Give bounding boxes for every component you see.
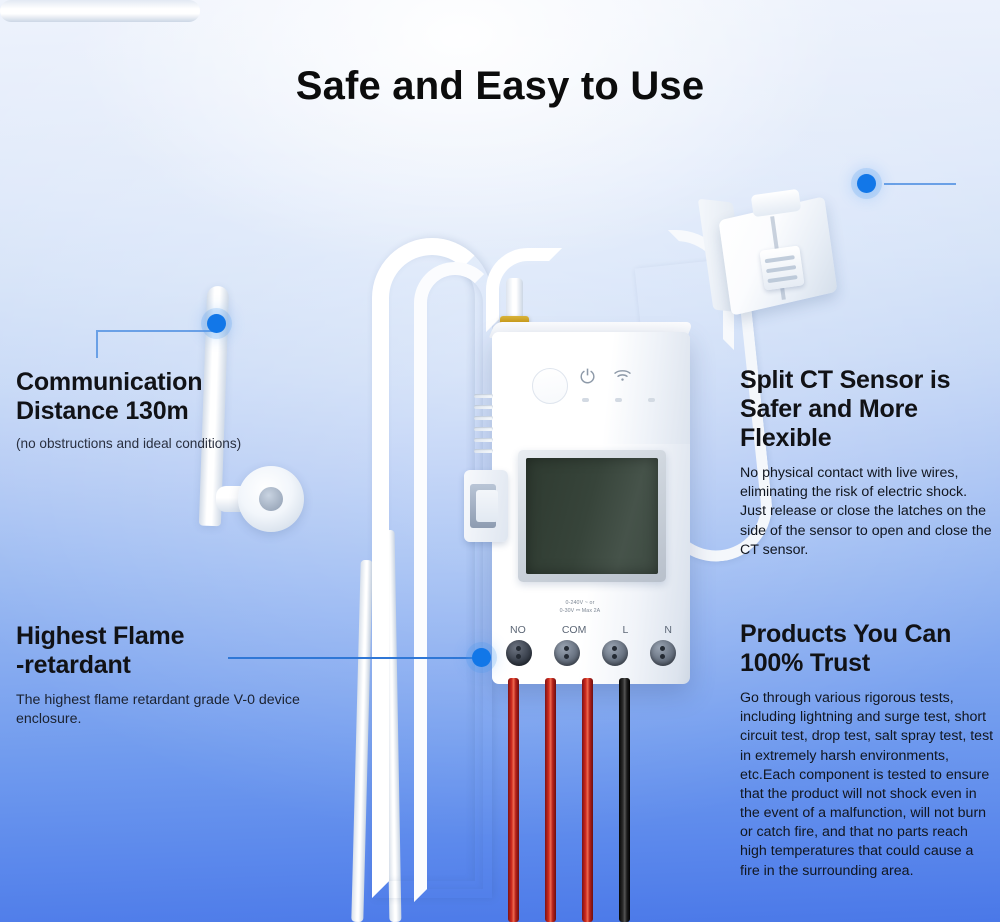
- callout-communication-heading: Communication Distance 130m: [16, 368, 266, 426]
- heading-line-1: Split CT Sensor is: [740, 366, 950, 394]
- terminal-screw-l: [602, 640, 628, 666]
- white-cable-tail-left: [351, 560, 372, 922]
- terminal-screw-n: [650, 640, 676, 666]
- marker-dot-flame: [472, 648, 491, 667]
- infographic-stage: ⏻ 0-240V ~ or 0-30V ⎓ Max: [0, 0, 1000, 922]
- terminal-label-com: COM: [562, 624, 587, 636]
- terminal-label-no: NO: [510, 624, 526, 636]
- terminal-label-l: L: [622, 624, 628, 636]
- wire-com: [545, 678, 556, 922]
- heading-line-2: Safer and More: [740, 395, 918, 423]
- heading-line-2: Distance 130m: [16, 397, 189, 425]
- callout-split-ct-sensor: Split CT Sensor is Safer and More Flexib…: [740, 366, 992, 560]
- antenna-extension-cable: [0, 0, 200, 22]
- device-upper-panel: [492, 332, 690, 444]
- callout-trust-heading: Products You Can 100% Trust: [740, 620, 995, 678]
- callout-flame-heading: Highest Flame -retardant: [16, 622, 306, 680]
- heading-line-2: -retardant: [16, 651, 131, 679]
- callout-communication-body: (no obstructions and ideal conditions): [16, 435, 266, 453]
- ct-sensor-latch: [759, 245, 804, 290]
- heading-line-2: 100% Trust: [740, 649, 870, 677]
- energy-meter-device: ⏻ 0-240V ~ or 0-30V ⎓ Max: [470, 332, 690, 684]
- callout-ct-body: No physical contact with live wires, eli…: [740, 464, 992, 560]
- terminal-label-row: NO COM L N: [500, 624, 682, 636]
- heading-line-1: Products You Can: [740, 620, 951, 648]
- leader-line-ct-sensor: [884, 183, 956, 185]
- callout-ct-heading: Split CT Sensor is Safer and More Flexib…: [740, 366, 992, 453]
- callout-flame-body: The highest flame retardant grade V-0 de…: [16, 691, 306, 729]
- heading-line-1: Communication: [16, 368, 202, 396]
- page-title: Safe and Easy to Use: [0, 64, 1000, 109]
- spec-line-2: 0-30V ⎓ Max 2A: [520, 608, 640, 616]
- device-spec-label: 0-240V ~ or 0-30V ⎓ Max 2A: [520, 600, 640, 615]
- device-vents: [470, 394, 496, 458]
- antenna-base-ring: [238, 466, 304, 532]
- wifi-icon: [613, 368, 632, 387]
- ct-sensor: [700, 186, 850, 336]
- marker-dot-communication: [207, 314, 226, 333]
- wire-n: [619, 678, 630, 922]
- callout-communication-distance: Communication Distance 130m (no obstruct…: [16, 368, 266, 453]
- terminal-screw-com: [554, 640, 580, 666]
- lcd-bezel: [518, 450, 666, 582]
- wire-l: [582, 678, 593, 922]
- led-indicator-1: [582, 398, 589, 402]
- callout-flame-retardant: Highest Flame -retardant The highest fla…: [16, 622, 306, 729]
- marker-dot-ct-sensor: [857, 174, 876, 193]
- leader-line-communication-horizontal: [96, 330, 212, 332]
- callout-trust-body: Go through various rigorous tests, inclu…: [740, 689, 995, 881]
- terminal-label-n: N: [664, 624, 672, 636]
- terminal-screw-row: [500, 640, 682, 666]
- heading-line-1: Highest Flame: [16, 622, 184, 650]
- din-rail-clip: [464, 470, 508, 542]
- leader-line-communication-vertical: [96, 330, 98, 358]
- led-indicator-2: [615, 398, 622, 402]
- lcd-screen: [526, 458, 658, 574]
- callout-products-trust: Products You Can 100% Trust Go through v…: [740, 620, 995, 881]
- terminal-screw-no: [506, 640, 532, 666]
- device-power-button[interactable]: [532, 368, 568, 404]
- led-indicator-3: [648, 398, 655, 402]
- power-icon: ⏻: [580, 368, 595, 387]
- heading-line-3: Flexible: [740, 424, 832, 452]
- spec-line-1: 0-240V ~ or: [520, 600, 640, 608]
- wire-no: [508, 678, 519, 922]
